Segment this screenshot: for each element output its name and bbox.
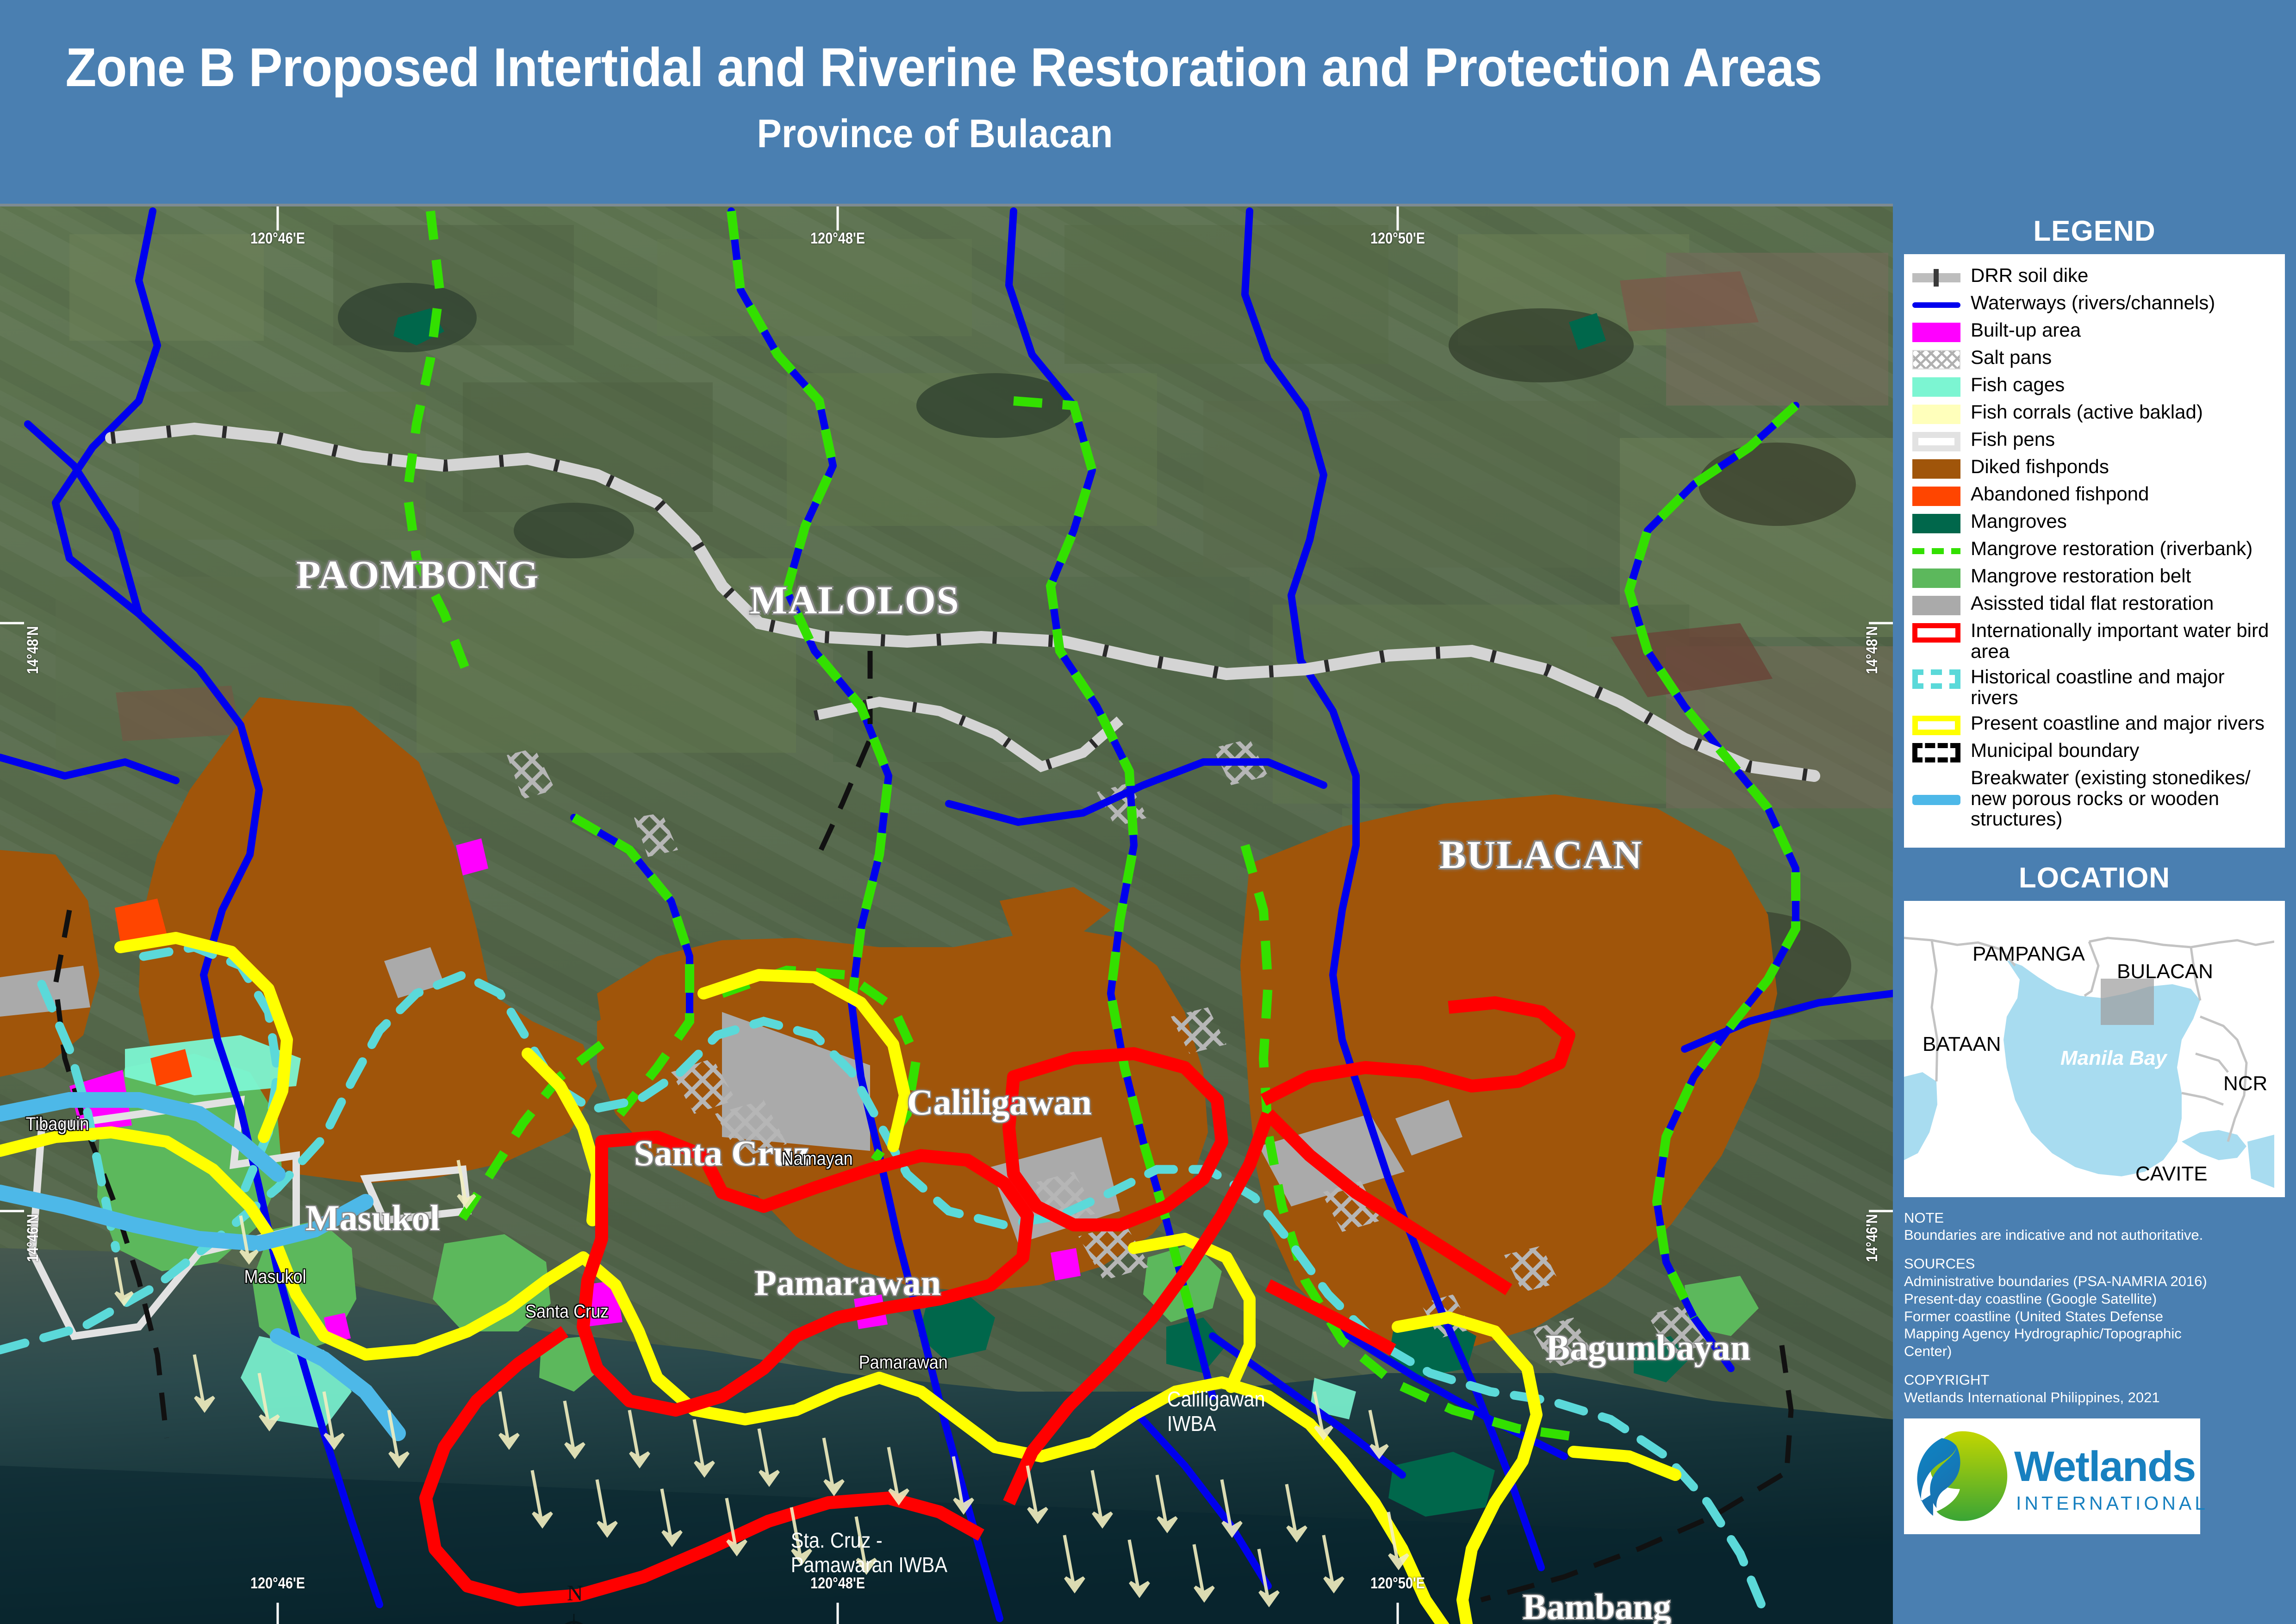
- fish-cages-swatch-icon: [1912, 377, 1960, 397]
- legend-item-salt-pans: Salt pans: [1912, 347, 2277, 369]
- legend-item-waterways: Waterways (rivers/channels): [1912, 293, 2277, 315]
- graticule-label-bottom-1: 120°46'E: [250, 1574, 305, 1593]
- legend-item-breakwater: Breakwater (existing stonedikes/ new por…: [1912, 768, 2277, 830]
- mangrove-restoration-dash-icon: [1912, 541, 1960, 561]
- present-coastline-box-icon: [1912, 716, 1960, 735]
- side-panel: LEGEND DRR soil dike Waterways (rivers/c…: [1893, 204, 2296, 1624]
- sources-group: SOURCES Administrative boundaries (PSA-N…: [1904, 1255, 2285, 1360]
- iwba-label-caliligawan: Caliligawan IWBA: [1167, 1387, 1265, 1436]
- legend-box: DRR soil dike Waterways (rivers/channels…: [1904, 254, 2285, 848]
- source-line: Present-day coastline (Google Satellite): [1904, 1290, 2285, 1308]
- legend-label: Municipal boundary: [1971, 740, 2139, 761]
- breakwater-line-icon: [1912, 791, 1960, 809]
- legend-label: Mangrove restoration belt: [1971, 566, 2191, 587]
- place-label-santa-cruz: Santa Cruz: [525, 1301, 609, 1322]
- water-bird-area-box-icon: [1912, 623, 1960, 643]
- legend-label: Fish corrals (active baklad): [1971, 402, 2203, 423]
- map-graphic: [0, 206, 1893, 1624]
- tidal-flat-swatch-icon: [1912, 596, 1960, 615]
- location-label-pampanga: PAMPANGA: [1972, 943, 2085, 966]
- wetlands-head-icon: [1911, 1429, 2011, 1524]
- legend-item-abandoned-fishpond: Abandoned fishpond: [1912, 484, 2277, 506]
- mangrove-belt-swatch-icon: [1912, 568, 1960, 588]
- legend-label: Diked fishponds: [1971, 456, 2109, 477]
- legend-label: Mangrove restoration (riverbank): [1971, 538, 2252, 559]
- source-line: Mapping Agency Hydrographic/Topographic: [1904, 1325, 2285, 1343]
- legend-item-water-bird-area: Internationally important water bird are…: [1912, 620, 2277, 662]
- legend-item-diked-fishponds: Diked fishponds: [1912, 456, 2277, 479]
- abandoned-fishpond-swatch-icon: [1912, 487, 1960, 506]
- graticule-label-right-1: 14°48'N: [1863, 626, 1881, 674]
- municipality-label-malolos: MALOLOS: [750, 577, 960, 623]
- graticule-label-bottom-2: 120°48'E: [810, 1574, 865, 1593]
- poster-header: Zone B Proposed Intertidal and Riverine …: [0, 0, 2296, 204]
- legend-item-fish-cages: Fish cages: [1912, 375, 2277, 397]
- logo-wordmark: Wetlands: [2014, 1443, 2195, 1491]
- copyright-group: COPYRIGHT Wetlands International Philipp…: [1904, 1371, 2285, 1406]
- legend-label: DRR soil dike: [1971, 265, 2088, 286]
- compass-rose: N E S W: [521, 1600, 627, 1624]
- legend-label: Built-up area: [1971, 320, 2081, 341]
- note-text: Boundaries are indicative and not author…: [1904, 1226, 2285, 1244]
- legend-item-present-coastline: Present coastline and major rivers: [1912, 713, 2277, 735]
- copyright-text: Wetlands International Philippines, 2021: [1904, 1389, 2285, 1406]
- legend-item-tidal-flat-restoration: Asissted tidal flat restoration: [1912, 593, 2277, 615]
- graticule-label-bottom-3: 120°50'E: [1370, 1574, 1425, 1593]
- place-label-masukol: Masukol: [244, 1267, 306, 1287]
- legend-item-fish-pens: Fish pens: [1912, 429, 2277, 451]
- legend-label: Mangroves: [1971, 511, 2067, 532]
- barangay-label-bambang: Bambang: [1523, 1586, 1671, 1624]
- location-label-bataan: BATAAN: [1923, 1033, 2001, 1056]
- legend-item-mangrove-restoration-riverbank: Mangrove restoration (riverbank): [1912, 538, 2277, 561]
- municipality-label-bulacan: BULACAN: [1439, 831, 1643, 878]
- sources-heading: SOURCES: [1904, 1255, 2285, 1273]
- map-poster: Zone B Proposed Intertidal and Riverine …: [0, 0, 2296, 1624]
- barangay-label-masukol: Masukol: [305, 1197, 440, 1239]
- graticule-label-left-2: 14°46'N: [24, 1214, 42, 1262]
- graticule-label-right-2: 14°46'N: [1863, 1214, 1881, 1262]
- built-up-swatch-icon: [1912, 323, 1960, 342]
- place-label-namayan: Namayan: [782, 1149, 853, 1169]
- legend-label: Breakwater (existing stonedikes/ new por…: [1971, 768, 2267, 830]
- graticule-label-top-3: 120°50'E: [1370, 230, 1425, 248]
- place-label-tibaguin: Tibaguin: [26, 1114, 89, 1135]
- municipal-boundary-dashbox-icon: [1912, 743, 1960, 762]
- location-label-bulacan: BULACAN: [2117, 960, 2213, 983]
- logo-subtitle: INTERNATIONAL: [2016, 1493, 2209, 1514]
- barangay-label-bagumbayan: Bagumbayan: [1546, 1327, 1750, 1368]
- mangroves-swatch-icon: [1912, 514, 1960, 533]
- copyright-heading: COPYRIGHT: [1904, 1371, 2285, 1389]
- location-inset: LOCATION: [1904, 860, 2285, 1197]
- location-map[interactable]: PAMPANGA BULACAN BATAAN NCR CAVITE Manil…: [1904, 901, 2285, 1197]
- notes-block: NOTE Boundaries are indicative and not a…: [1904, 1209, 2285, 1406]
- legend-item-historical-coastline: Historical coastline and major rivers: [1912, 667, 2277, 708]
- legend-heading: LEGEND: [1904, 213, 2285, 254]
- legend-label: Abandoned fishpond: [1971, 484, 2149, 505]
- note-heading: NOTE: [1904, 1209, 2285, 1227]
- legend-item-drr-soil-dike: DRR soil dike: [1912, 265, 2277, 287]
- place-label-pamarawan: Pamarawan: [859, 1352, 948, 1373]
- graticule-label-top-2: 120°48'E: [810, 230, 865, 248]
- wetlands-international-logo: Wetlands INTERNATIONAL: [1904, 1418, 2200, 1534]
- compass-north-label: N: [567, 1580, 583, 1606]
- legend-label: Present coastline and major rivers: [1971, 713, 2265, 734]
- location-label-ncr: NCR: [2223, 1072, 2267, 1095]
- fish-pens-outline-icon: [1912, 432, 1960, 451]
- legend-item-mangroves: Mangroves: [1912, 511, 2277, 533]
- legend-item-fish-corrals: Fish corrals (active baklad): [1912, 402, 2277, 424]
- note-group: NOTE Boundaries are indicative and not a…: [1904, 1209, 2285, 1244]
- legend-label: Fish pens: [1971, 429, 2055, 450]
- historical-coastline-dashbox-icon: [1912, 669, 1960, 689]
- legend-label: Historical coastline and major rivers: [1971, 667, 2277, 708]
- graticule-label-top-1: 120°46'E: [250, 230, 305, 248]
- legend-label: Fish cages: [1971, 375, 2065, 395]
- salt-pans-hatch-icon: [1912, 350, 1960, 369]
- main-map[interactable]: 120°46'E 120°48'E 120°50'E 120°46'E 120°…: [0, 204, 1893, 1624]
- legend-item-mangrove-restoration-belt: Mangrove restoration belt: [1912, 566, 2277, 588]
- source-line: Administrative boundaries (PSA-NAMRIA 20…: [1904, 1273, 2285, 1290]
- fish-corrals-swatch-icon: [1912, 405, 1960, 424]
- barangay-label-pamarawan: Pamarawan: [754, 1262, 941, 1304]
- location-label-cavite: CAVITE: [2135, 1162, 2208, 1186]
- source-line: Former coastline (United States Defense: [1904, 1308, 2285, 1325]
- legend-label: Salt pans: [1971, 347, 2052, 368]
- drr-soil-dike-icon: [1912, 268, 1960, 287]
- location-label-manila-bay: Manila Bay: [2060, 1047, 2167, 1070]
- legend-item-built-up-area: Built-up area: [1912, 320, 2277, 342]
- legend-item-municipal-boundary: Municipal boundary: [1912, 740, 2277, 762]
- municipality-label-paombong: PAOMBONG: [296, 551, 540, 598]
- diked-fishponds-swatch-icon: [1912, 459, 1960, 479]
- barangay-label-caliligawan: Caliligawan: [907, 1081, 1092, 1123]
- legend-label: Asissted tidal flat restoration: [1971, 593, 2214, 614]
- legend-label: Waterways (rivers/channels): [1971, 293, 2215, 313]
- source-line: Center): [1904, 1343, 2285, 1360]
- iwba-label-sta-cruz-pamawaran: Sta. Cruz - Pamawaran IWBA: [791, 1528, 947, 1577]
- location-heading: LOCATION: [1904, 860, 2285, 901]
- legend-label: Internationally important water bird are…: [1971, 620, 2277, 662]
- page-subtitle: Province of Bulacan: [65, 111, 1804, 157]
- waterway-line-icon: [1912, 295, 1960, 315]
- graticule-label-left-1: 14°48'N: [24, 626, 42, 674]
- page-title: Zone B Proposed Intertidal and Riverine …: [65, 36, 1804, 99]
